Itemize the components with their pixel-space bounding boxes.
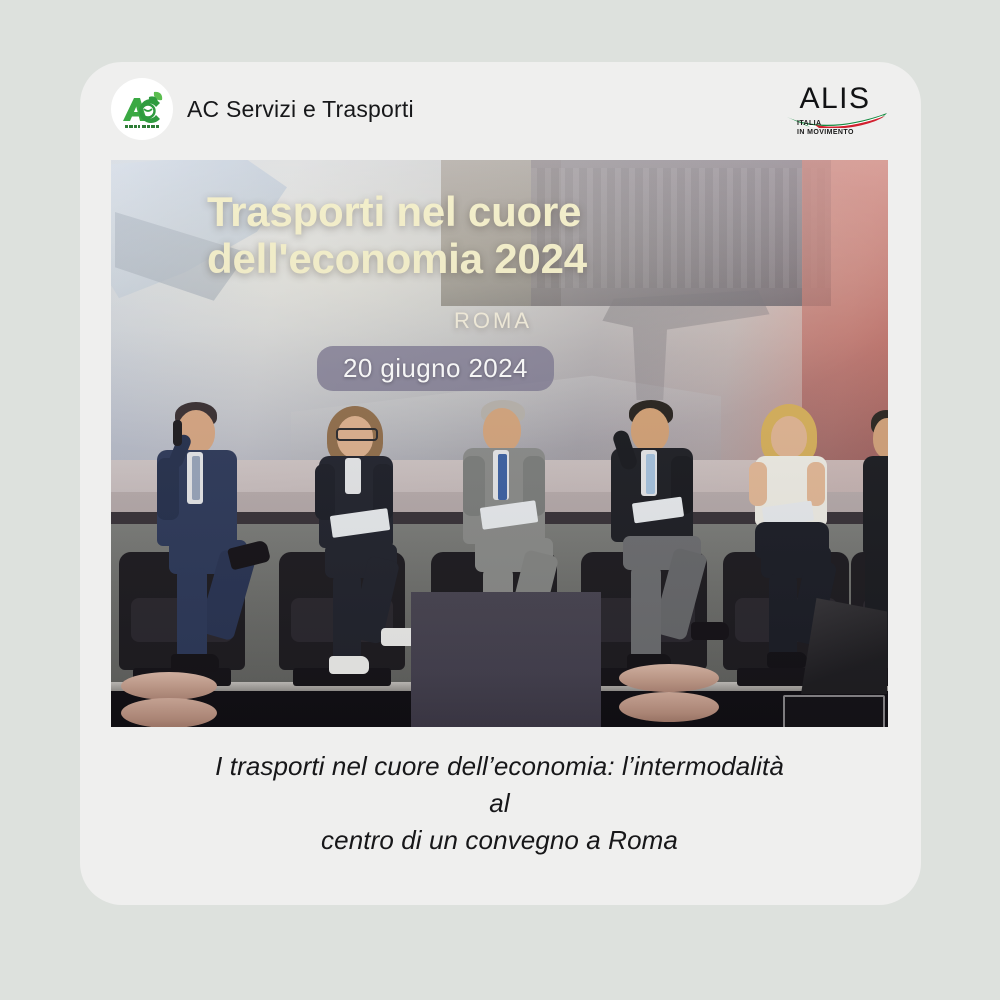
microphone-icon (173, 420, 182, 446)
caption-line-3: centro di un convegno a Roma (111, 822, 888, 859)
post-caption: I trasporti nel cuore dell’economia: l’i… (111, 748, 888, 859)
post-card: AC Servizi e Trasporti ALIS ITALIA IN MO… (80, 62, 921, 905)
brand-name: AC Servizi e Trasporti (187, 96, 414, 123)
alis-tagline-line1: ITALIA (797, 120, 854, 129)
slide-title-line2: dell'economia 2024 (207, 235, 767, 282)
brand-block: AC Servizi e Trasporti (111, 78, 414, 140)
alis-tagline-line2: IN MOVIMENTO (797, 129, 854, 138)
stage-front-monitor (783, 695, 885, 727)
slide-title: Trasporti nel cuore dell'economia 2024 (207, 188, 767, 282)
eyeglasses-icon (336, 428, 378, 441)
stage-podium (411, 592, 601, 727)
conference-panel-photo: Trasporti nel cuore dell'economia 2024 R… (111, 160, 888, 727)
ac-servizi-e-trasporti-logo-icon (111, 78, 173, 140)
alis-tagline: ITALIA IN MOVIMENTO (797, 120, 854, 138)
foreground-stool (619, 664, 719, 724)
alis-logo-icon: ALIS ITALIA IN MOVIMENTO (781, 84, 889, 140)
caption-line-1: I trasporti nel cuore dell’economia: l’i… (111, 748, 888, 785)
caption-line-2: al (111, 785, 888, 822)
slide-title-line1: Trasporti nel cuore (207, 188, 767, 235)
slide-date-badge: 20 giugno 2024 (317, 346, 554, 391)
panelist (609, 400, 755, 696)
panelist (151, 402, 301, 692)
card-header: AC Servizi e Trasporti ALIS ITALIA IN MO… (80, 62, 921, 160)
screenshot-root: AC Servizi e Trasporti ALIS ITALIA IN MO… (0, 0, 1000, 1000)
alis-wordmark: ALIS (781, 84, 889, 114)
foreground-stool (121, 672, 217, 727)
slide-city: ROMA (393, 308, 593, 334)
